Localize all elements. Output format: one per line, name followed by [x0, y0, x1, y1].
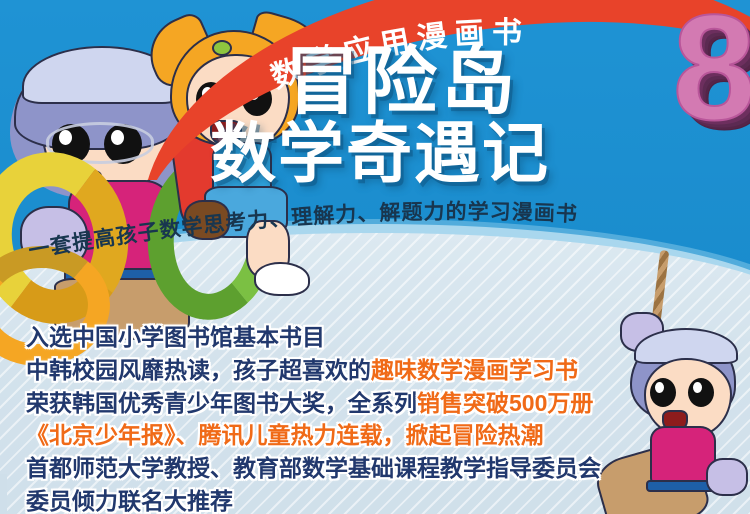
blurb-segment-blue: 入选中国小学图书馆基本书目	[26, 324, 325, 350]
blurb-line: 委员倾力联名大推荐	[26, 485, 626, 514]
blurb-line: 中韩校园风靡热读，孩子超喜欢的趣味数学漫画学习书	[26, 354, 626, 387]
glove-free-hand	[706, 458, 748, 496]
title-block: 冒险岛 数学奇遇记	[285, 48, 685, 190]
title-main: 冒险岛	[285, 48, 685, 119]
corner-decoration	[0, 474, 7, 514]
blurb-segment-orange: 趣味数学漫画学习书	[371, 357, 578, 383]
blurb-segment-blue: 首都师范大学教授、教育部数学基础课程教学指导委员会	[26, 455, 601, 481]
blurb-line: 首都师范大学教授、教育部数学基础课程教学指导委员会	[26, 452, 626, 485]
blurb-line: 荣获韩国优秀青少年图书大奖，全系列销售突破500万册	[26, 387, 626, 420]
book-cover: 数学应用漫画书 8 冒险岛 数学奇遇记 一套提高孩子数学思考力、理解力、解题力的…	[0, 0, 750, 514]
shoe	[254, 262, 310, 296]
blurb-segment-orange: 《北京少年报》、腾讯儿童热力连载，掀起冒险热潮	[26, 422, 544, 448]
eye-left	[650, 378, 676, 407]
blurb-segment-orange: 销售突破500万册	[417, 390, 593, 416]
blurb-segment-blue: 荣获韩国优秀青少年图书大奖，全系列	[26, 390, 417, 416]
brown-glove	[184, 200, 230, 240]
blurb-line: 《北京少年报》、腾讯儿童热力连载，掀起冒险热潮	[26, 419, 626, 452]
blurb-segment-blue: 中韩校园风靡热读，孩子超喜欢的	[26, 357, 371, 383]
title-subtitle: 数学奇遇记	[210, 119, 685, 190]
blurb-line: 入选中国小学图书馆基本书目	[26, 321, 626, 354]
eye-right	[688, 378, 714, 407]
blurb-segment-blue: 委员倾力联名大推荐	[26, 488, 233, 514]
blurb-block: 入选中国小学图书馆基本书目中韩校园风靡热读，孩子超喜欢的趣味数学漫画学习书荣获韩…	[26, 321, 626, 514]
